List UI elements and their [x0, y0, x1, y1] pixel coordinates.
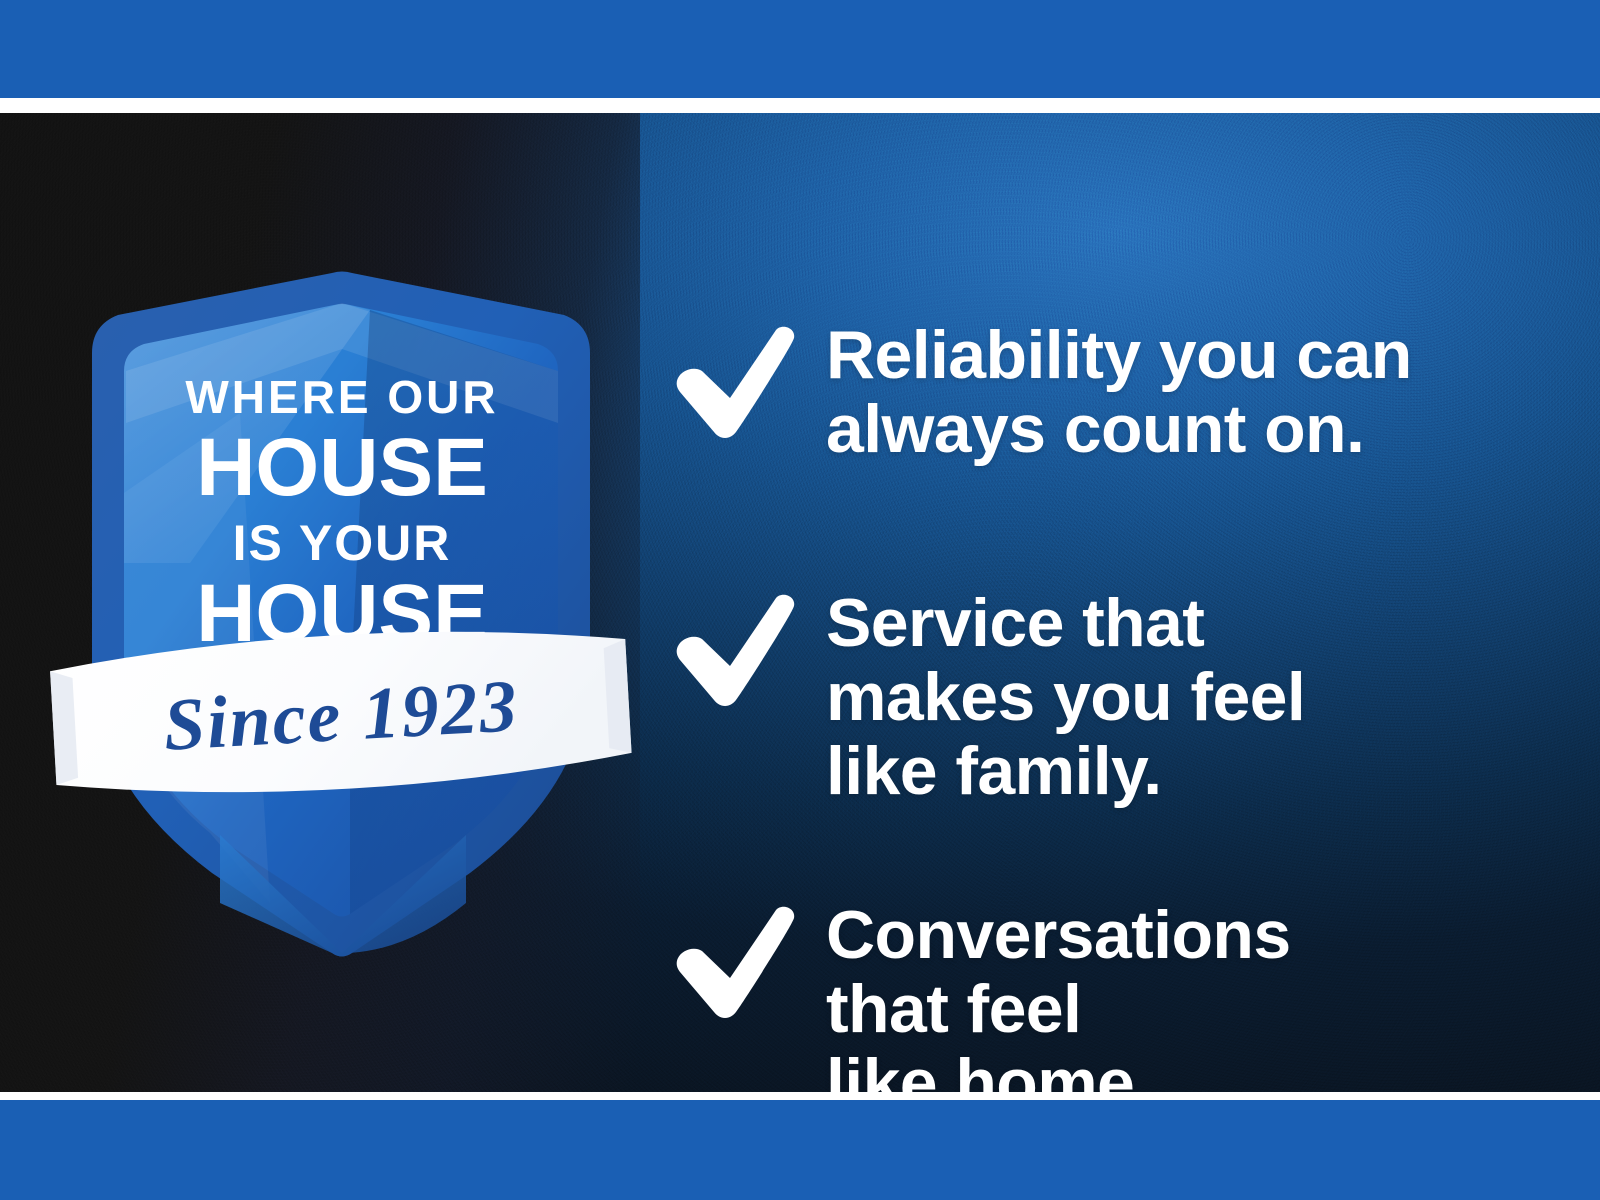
bottom-brand-bar: [0, 1100, 1600, 1200]
benefit-item-2: Service that makes you feel like family.: [672, 586, 1305, 808]
benefit-item-1: Reliability you can always count on.: [672, 318, 1412, 466]
shield-line-2: HOUSE: [196, 422, 488, 513]
benefit-text-3: Conversations that feel like home.: [826, 898, 1291, 1092]
main-stage: WHERE OUR HOUSE IS YOUR HOUSE Since 1923: [0, 113, 1600, 1092]
benefit-item-3: Conversations that feel like home.: [672, 898, 1291, 1092]
bottom-white-rule: [0, 1092, 1600, 1100]
check-icon: [672, 326, 800, 444]
shield-line-3: IS YOUR: [233, 515, 452, 571]
shield-badge: WHERE OUR HOUSE IS YOUR HOUSE Since 1923: [70, 263, 610, 963]
check-icon: [672, 906, 800, 1024]
shield-line-1: WHERE OUR: [185, 371, 498, 423]
top-brand-bar: [0, 0, 1600, 98]
promo-graphic: WHERE OUR HOUSE IS YOUR HOUSE Since 1923: [0, 0, 1600, 1200]
top-white-rule: [0, 98, 1600, 113]
benefit-text-2: Service that makes you feel like family.: [826, 586, 1305, 808]
benefit-text-1: Reliability you can always count on.: [826, 318, 1412, 466]
check-icon: [672, 594, 800, 712]
